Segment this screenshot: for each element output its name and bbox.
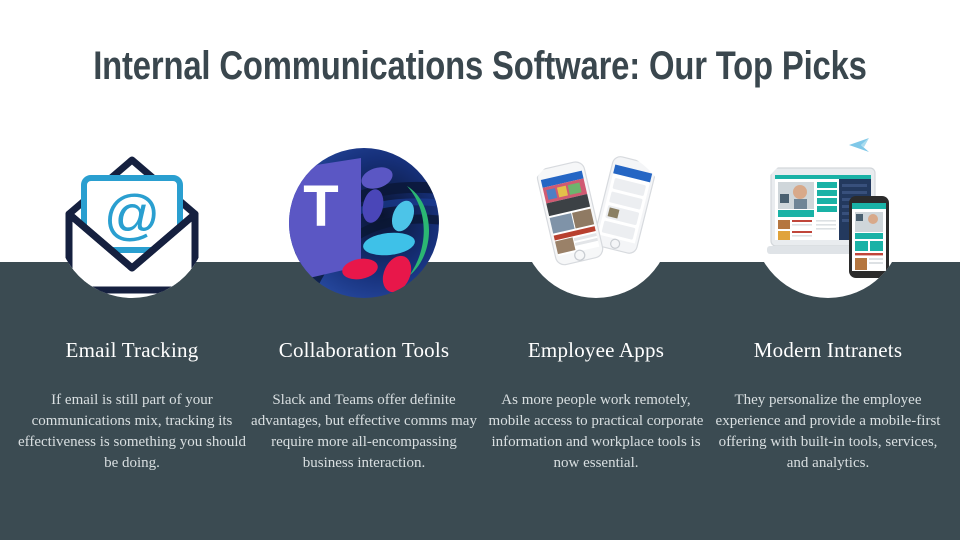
feature-body-text: As more people work remotely, mobile acc… [480,390,712,474]
feature-body-text: If email is still part of your communica… [16,390,248,474]
feature-heading: Collaboration Tools [248,338,480,363]
feature-body-text: They personalize the employee experience… [712,390,944,474]
modern-intranet-devices-icon [753,148,903,298]
icon-container: T [248,140,480,312]
feature-heading: Employee Apps [480,338,712,363]
email-at-envelope-icon: @ [57,148,207,298]
collaboration-tools-collage-icon: T [289,148,439,298]
icon-container [480,140,712,312]
feature-column-employee-apps: Employee Apps As more people work remote… [480,140,712,312]
feature-column-collaboration-tools: T Collaboration Tools Slack and Teams of… [248,140,480,312]
employee-apps-phones-icon [521,148,671,298]
slide-canvas: Internal Communications Software: Our To… [0,0,960,540]
feature-column-email-tracking: @ Email Tracking If email is still part … [16,140,248,312]
feature-body-text: Slack and Teams offer definite advantage… [248,390,480,474]
svg-text:T: T [303,174,338,239]
svg-text:@: @ [104,183,161,246]
page-title: Internal Communications Software: Our To… [86,44,873,89]
feature-heading: Email Tracking [16,338,248,363]
icon-container: @ [16,140,248,312]
feature-column-modern-intranets: Modern Intranets They personalize the em… [712,140,944,312]
feature-heading: Modern Intranets [712,338,944,363]
icon-container [712,140,944,312]
